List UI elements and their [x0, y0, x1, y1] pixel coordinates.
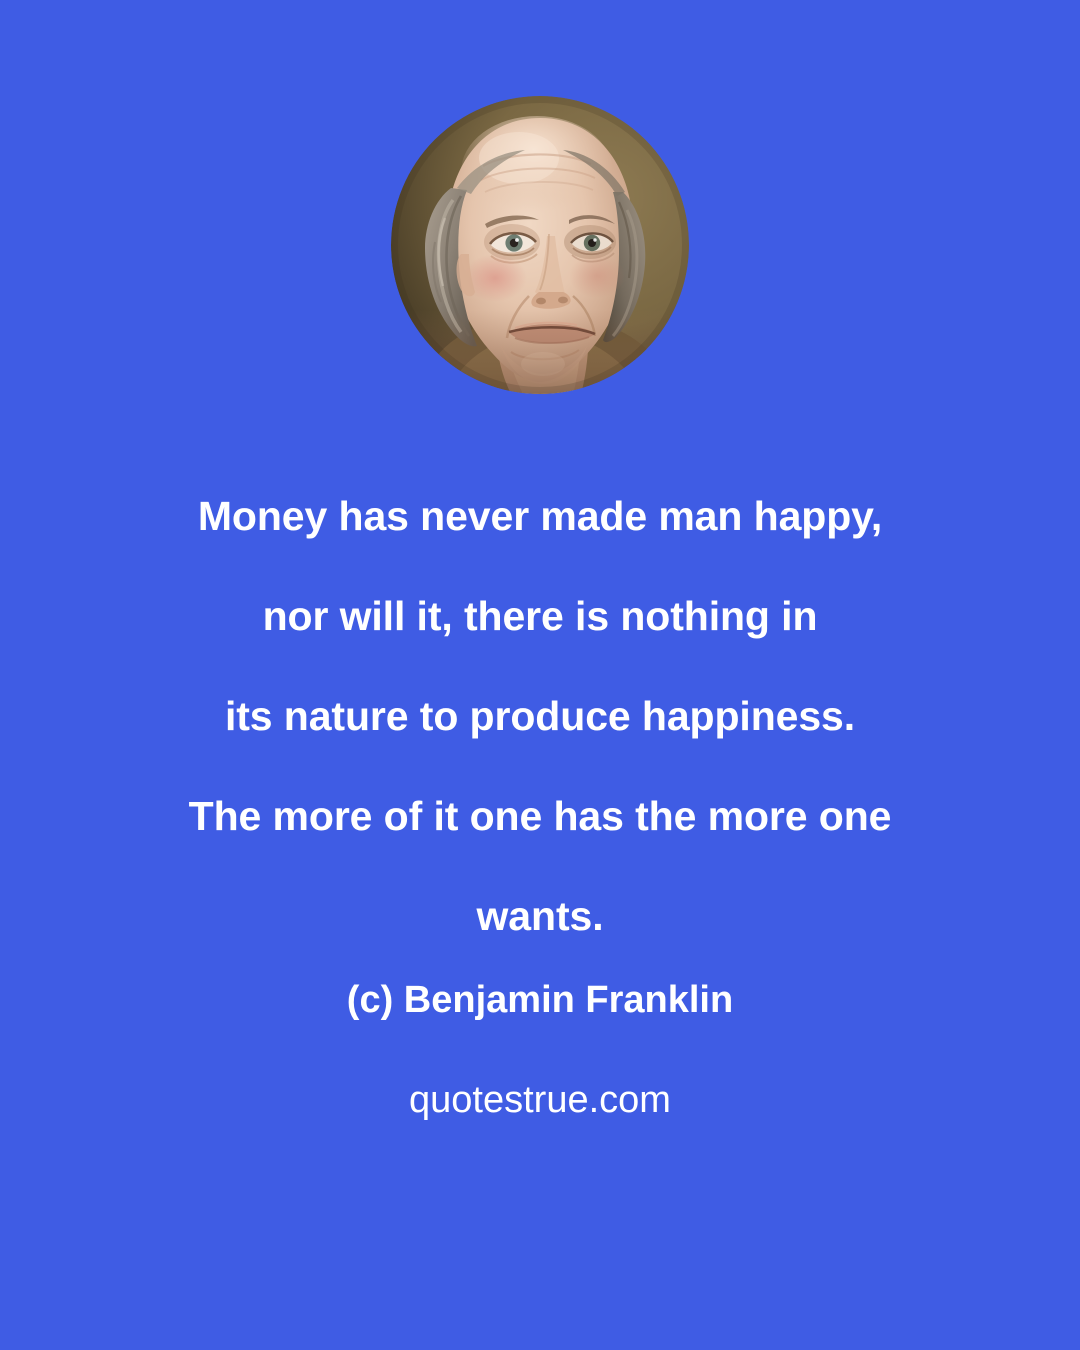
quote-line-1: Money has never made man happy, [0, 466, 1080, 566]
quote-text: Money has never made man happy, nor will… [0, 466, 1080, 966]
benjamin-franklin-portrait-icon [391, 96, 689, 394]
quote-card: Money has never made man happy, nor will… [0, 0, 1080, 1350]
quote-line-5: wants. [0, 866, 1080, 966]
portrait-illustration [391, 96, 689, 394]
source-watermark: quotestrue.com [0, 1076, 1080, 1124]
quote-line-4: The more of it one has the more one [0, 766, 1080, 866]
quote-line-2: nor will it, there is nothing in [0, 566, 1080, 666]
quote-line-3: its nature to produce happiness. [0, 666, 1080, 766]
quote-attribution: (c) Benjamin Franklin [0, 976, 1080, 1024]
